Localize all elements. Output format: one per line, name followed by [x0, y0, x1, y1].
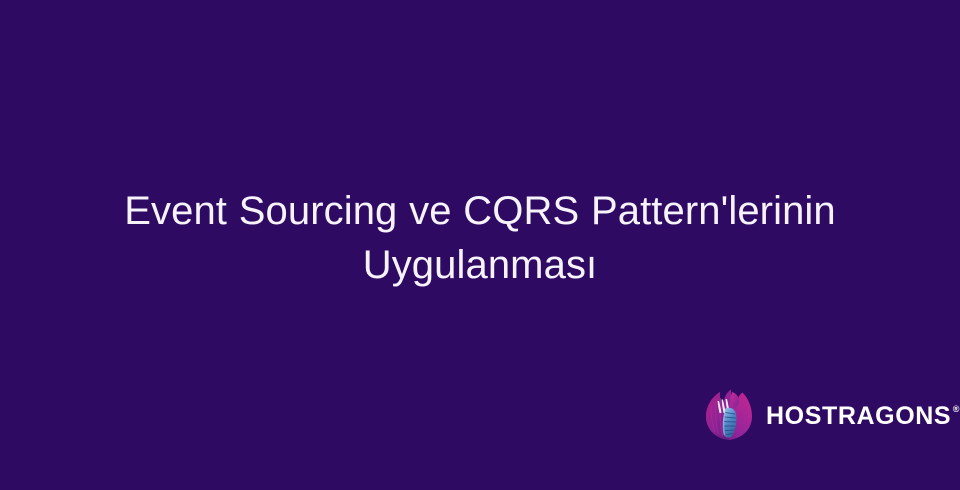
blog-cover-banner: Event Sourcing ve CQRS Pattern'lerinin U…: [0, 0, 960, 490]
page-title: Event Sourcing ve CQRS Pattern'lerinin U…: [115, 184, 845, 292]
registered-trademark-icon: ®: [953, 405, 960, 414]
logo-wordmark-text: HOSTRAGONS: [766, 404, 951, 429]
dragon-icon: [704, 388, 754, 442]
hostragons-logo[interactable]: HOSTRAGONS®: [704, 386, 920, 444]
logo-wordmark: HOSTRAGONS®: [766, 404, 960, 429]
